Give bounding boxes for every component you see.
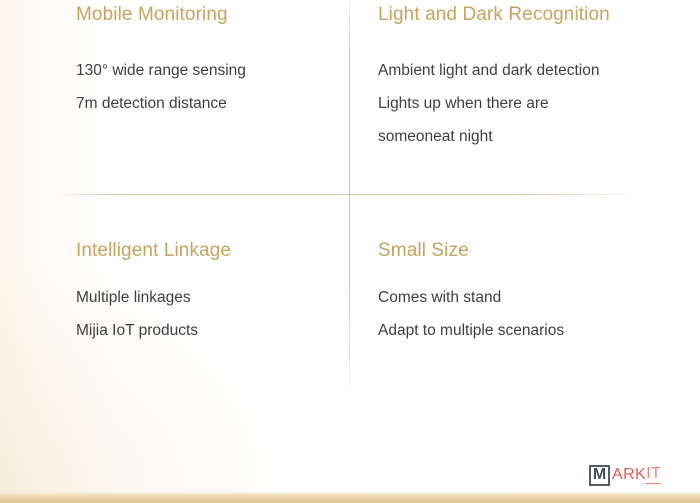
markit-watermark-logo: M ARK IT <box>589 463 661 487</box>
grid-divider-horizontal <box>55 194 638 195</box>
feature-line: someoneat night <box>378 120 610 153</box>
feature-line-list: Multiple linkages Mijia IoT products <box>76 281 231 347</box>
grid-divider-vertical <box>349 0 350 398</box>
feature-title: Small Size <box>378 238 564 264</box>
feature-line-list: Comes with stand Adapt to multiple scena… <box>378 281 564 347</box>
feature-line: Adapt to multiple scenarios <box>378 314 564 347</box>
feature-line-list: Ambient light and dark detection Lights … <box>378 54 610 153</box>
feature-grid-page: Mobile Monitoring 130° wide range sensin… <box>0 0 700 503</box>
feature-line: Mijia IoT products <box>76 314 231 347</box>
watermark-mid-text: ARK <box>612 467 646 483</box>
watermark-boxed-letter: M <box>593 467 606 483</box>
watermark-letter-box: M <box>589 465 610 486</box>
feature-cell-small-size: Small Size Comes with stand Adapt to mul… <box>349 194 700 398</box>
feature-line: 130° wide range sensing <box>76 54 246 87</box>
watermark-end-text: IT <box>646 466 661 484</box>
feature-title: Light and Dark Recognition <box>378 2 610 28</box>
feature-line: Multiple linkages <box>76 281 231 314</box>
bottom-accent-strip <box>0 494 700 503</box>
feature-cell-intelligent-linkage: Intelligent Linkage Multiple linkages Mi… <box>0 194 349 398</box>
feature-grid: Mobile Monitoring 130° wide range sensin… <box>0 0 700 503</box>
feature-line: 7m detection distance <box>76 87 246 120</box>
feature-line: Ambient light and dark detection <box>378 54 610 87</box>
feature-title: Intelligent Linkage <box>76 238 231 264</box>
feature-cell-light-and-dark-recognition: Light and Dark Recognition Ambient light… <box>349 0 700 194</box>
feature-title: Mobile Monitoring <box>76 2 246 28</box>
feature-line-list: 130° wide range sensing 7m detection dis… <box>76 54 246 120</box>
feature-line: Comes with stand <box>378 281 564 314</box>
feature-cell-mobile-monitoring: Mobile Monitoring 130° wide range sensin… <box>0 0 349 194</box>
feature-line: Lights up when there are <box>378 87 610 120</box>
